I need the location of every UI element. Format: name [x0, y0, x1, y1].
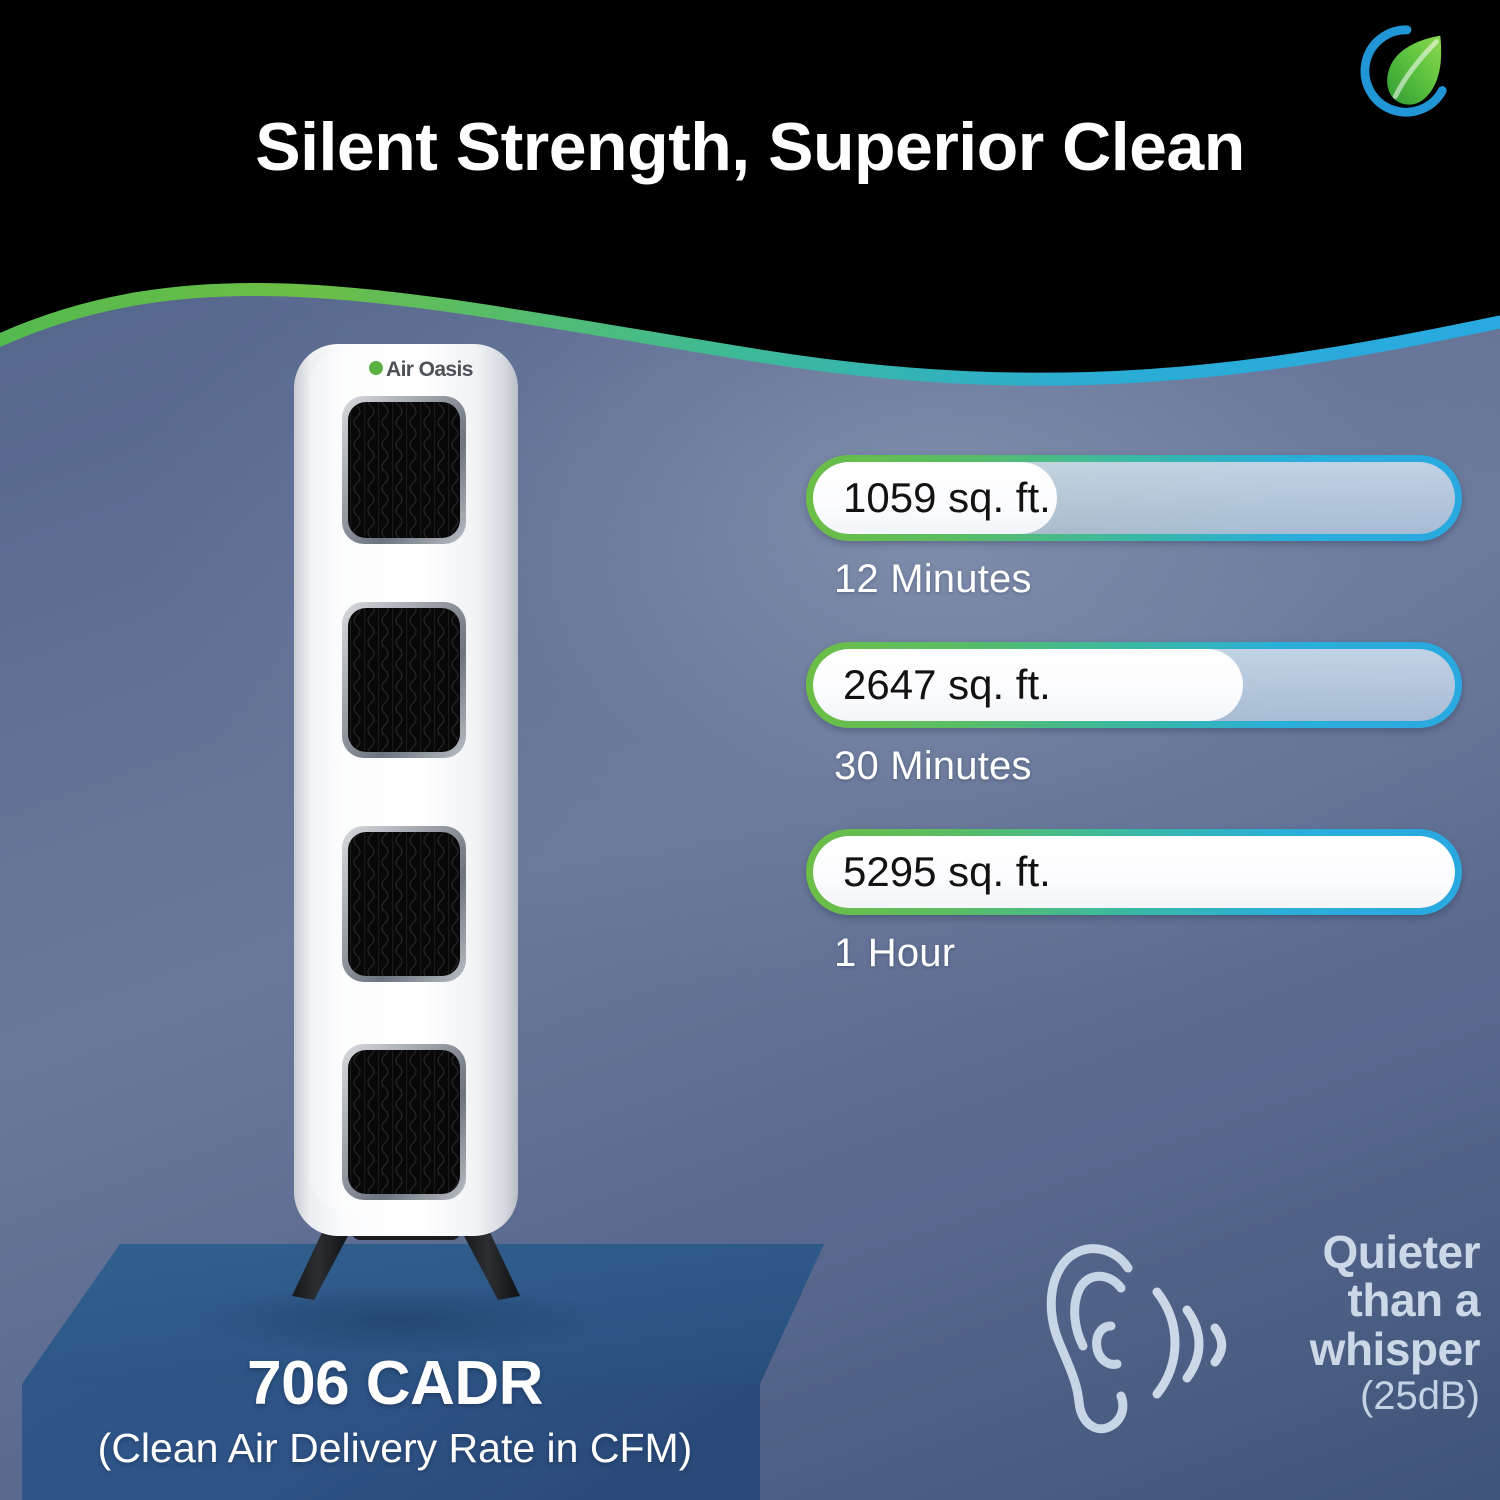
bar-outer-2: 2647 sq. ft.	[806, 642, 1462, 728]
bar-track-3: 5295 sq. ft.	[813, 836, 1455, 908]
bar-group-2: 2647 sq. ft. 30 Minutes	[806, 642, 1466, 789]
cadr-note: (Clean Air Delivery Rate in CFM)	[0, 1425, 790, 1472]
quiet-line-2: than a	[1230, 1276, 1480, 1324]
ear-with-sound-waves-icon	[1035, 1234, 1235, 1449]
purifier-grille-2	[342, 602, 466, 758]
bar-track-1: 1059 sq. ft.	[813, 462, 1455, 534]
quiet-text: Quieter than a whisper (25dB)	[1230, 1228, 1480, 1417]
air-purifier-product-image: Air Oasis	[280, 340, 532, 1300]
coverage-bar-chart: 1059 sq. ft. 12 Minutes 2647 sq. ft. 30 …	[806, 455, 1466, 1075]
quiet-db: (25dB)	[1230, 1375, 1480, 1417]
cadr-block: 706 CADR (Clean Air Delivery Rate in CFM…	[0, 1348, 790, 1472]
leaf-circle-logo-icon	[1358, 22, 1456, 120]
purifier-grille-1	[342, 396, 466, 544]
quiet-line-1: Quieter	[1230, 1228, 1480, 1276]
bar-group-1: 1059 sq. ft. 12 Minutes	[806, 455, 1466, 602]
bar-value-2: 2647 sq. ft.	[843, 649, 1051, 721]
bar-track-2: 2647 sq. ft.	[813, 649, 1455, 721]
quiet-block: Quieter than a whisper (25dB)	[1035, 1228, 1490, 1478]
bar-value-1: 1059 sq. ft.	[843, 462, 1051, 534]
svg-text:Air Oasis: Air Oasis	[386, 358, 473, 381]
cadr-value: 706 CADR	[0, 1348, 790, 1419]
bar-caption-1: 12 Minutes	[834, 557, 1466, 602]
bar-caption-3: 1 Hour	[834, 931, 1466, 976]
bar-group-3: 5295 sq. ft. 1 Hour	[806, 829, 1466, 976]
bar-caption-2: 30 Minutes	[834, 744, 1466, 789]
bar-outer-3: 5295 sq. ft.	[806, 829, 1462, 915]
purifier-grille-4	[342, 1044, 466, 1200]
quiet-line-3: whisper	[1230, 1325, 1480, 1373]
purifier-grille-3	[342, 826, 466, 982]
page-title: Silent Strength, Superior Clean	[0, 112, 1500, 183]
bar-value-3: 5295 sq. ft.	[843, 836, 1051, 908]
bar-outer-1: 1059 sq. ft.	[806, 455, 1462, 541]
infographic-canvas: Air Oasis	[0, 0, 1500, 1500]
